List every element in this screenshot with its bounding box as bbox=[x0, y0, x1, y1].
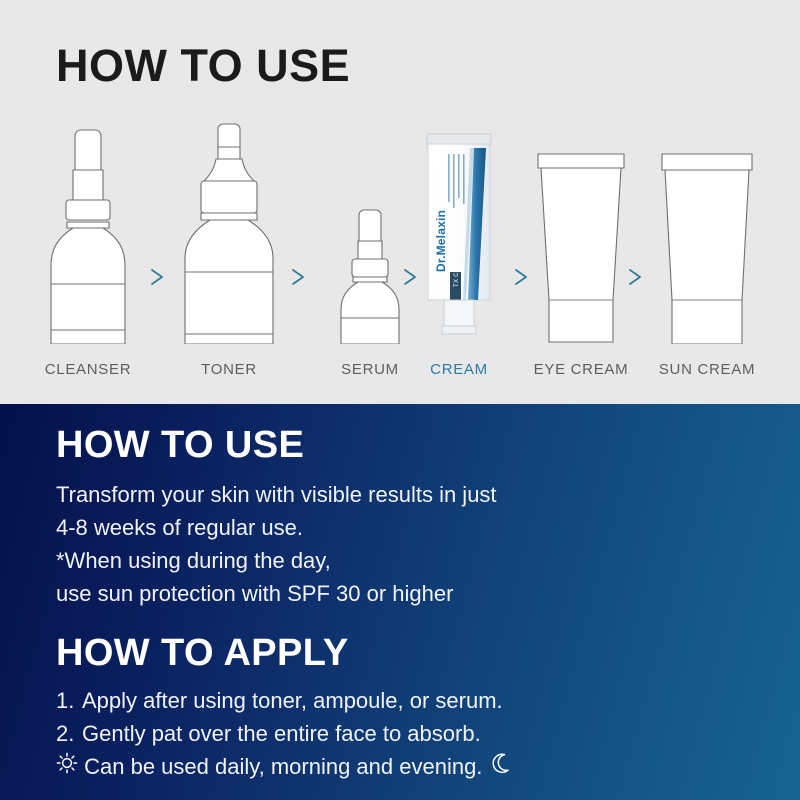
how-to-use-line: Transform your skin with visible results… bbox=[56, 482, 497, 507]
routine-step-label: TONER bbox=[170, 361, 288, 378]
dropper-bottle-large-icon bbox=[29, 122, 147, 344]
cream-tube-product-icon: Dr.Melaxin TX CREAM bbox=[400, 122, 518, 344]
svg-text:TX CREAM: TX CREAM bbox=[454, 254, 460, 287]
toner-bottle-icon bbox=[170, 122, 288, 344]
how-to-apply-heading: HOW TO APPLY bbox=[56, 634, 770, 672]
how-to-use-line: 4-8 weeks of regular use. bbox=[56, 515, 303, 540]
daily-usage-text: Can be used daily, morning and evening. bbox=[84, 754, 482, 779]
chevron-right-icon bbox=[287, 266, 309, 288]
routine-step-label: CREAM bbox=[400, 361, 518, 378]
instructions-bottom-panel: HOW TO USE Transform your skin with visi… bbox=[0, 404, 800, 800]
routine-step-cream[interactable]: Dr.Melaxin TX CREAM CREAM bbox=[400, 118, 518, 378]
how-to-use-body: Transform your skin with visible results… bbox=[56, 478, 770, 610]
how-to-apply-steps: 1.Apply after using toner, ampoule, or s… bbox=[56, 684, 770, 783]
crescent-moon-icon bbox=[489, 752, 511, 774]
routine-step-toner[interactable]: TONER bbox=[170, 118, 288, 378]
chevron-right-icon bbox=[146, 266, 168, 288]
routine-step-label: SUN CREAM bbox=[648, 361, 766, 378]
apply-step-number: 1. bbox=[56, 684, 82, 717]
apply-step-text: Gently pat over the entire face to absor… bbox=[82, 721, 481, 746]
page-title: HOW TO USE bbox=[56, 43, 350, 88]
chevron-right-icon bbox=[624, 266, 646, 288]
eye-cream-tube-icon bbox=[522, 122, 640, 344]
apply-step-item: 2.Gently pat over the entire face to abs… bbox=[56, 717, 770, 750]
how-to-use-heading: HOW TO USE bbox=[56, 426, 770, 464]
routine-step-eye-cream[interactable]: EYE CREAM bbox=[522, 118, 640, 378]
routine-step-cleanser[interactable]: CLEANSER bbox=[29, 118, 147, 378]
apply-step-item: 1.Apply after using toner, ampoule, or s… bbox=[56, 684, 770, 717]
apply-step-number: 2. bbox=[56, 717, 82, 750]
sun-cream-tube-icon bbox=[648, 122, 766, 344]
routine-step-row: CLEANSER bbox=[0, 118, 800, 378]
infographic-page: HOW TO USE bbox=[0, 0, 800, 800]
how-to-use-top-panel: HOW TO USE bbox=[0, 0, 800, 404]
routine-step-sun-cream[interactable]: SUN CREAM bbox=[648, 118, 766, 378]
routine-step-label: EYE CREAM bbox=[522, 361, 640, 378]
routine-step-label: CLEANSER bbox=[29, 361, 147, 378]
daily-usage-note: Can be used daily, morning and evening. bbox=[56, 750, 770, 783]
svg-text:Dr.Melaxin: Dr.Melaxin bbox=[434, 210, 448, 272]
how-to-use-line: use sun protection with SPF 30 or higher bbox=[56, 581, 453, 606]
sun-icon bbox=[56, 752, 78, 774]
apply-step-text: Apply after using toner, ampoule, or ser… bbox=[82, 688, 503, 713]
how-to-use-line: *When using during the day, bbox=[56, 548, 331, 573]
